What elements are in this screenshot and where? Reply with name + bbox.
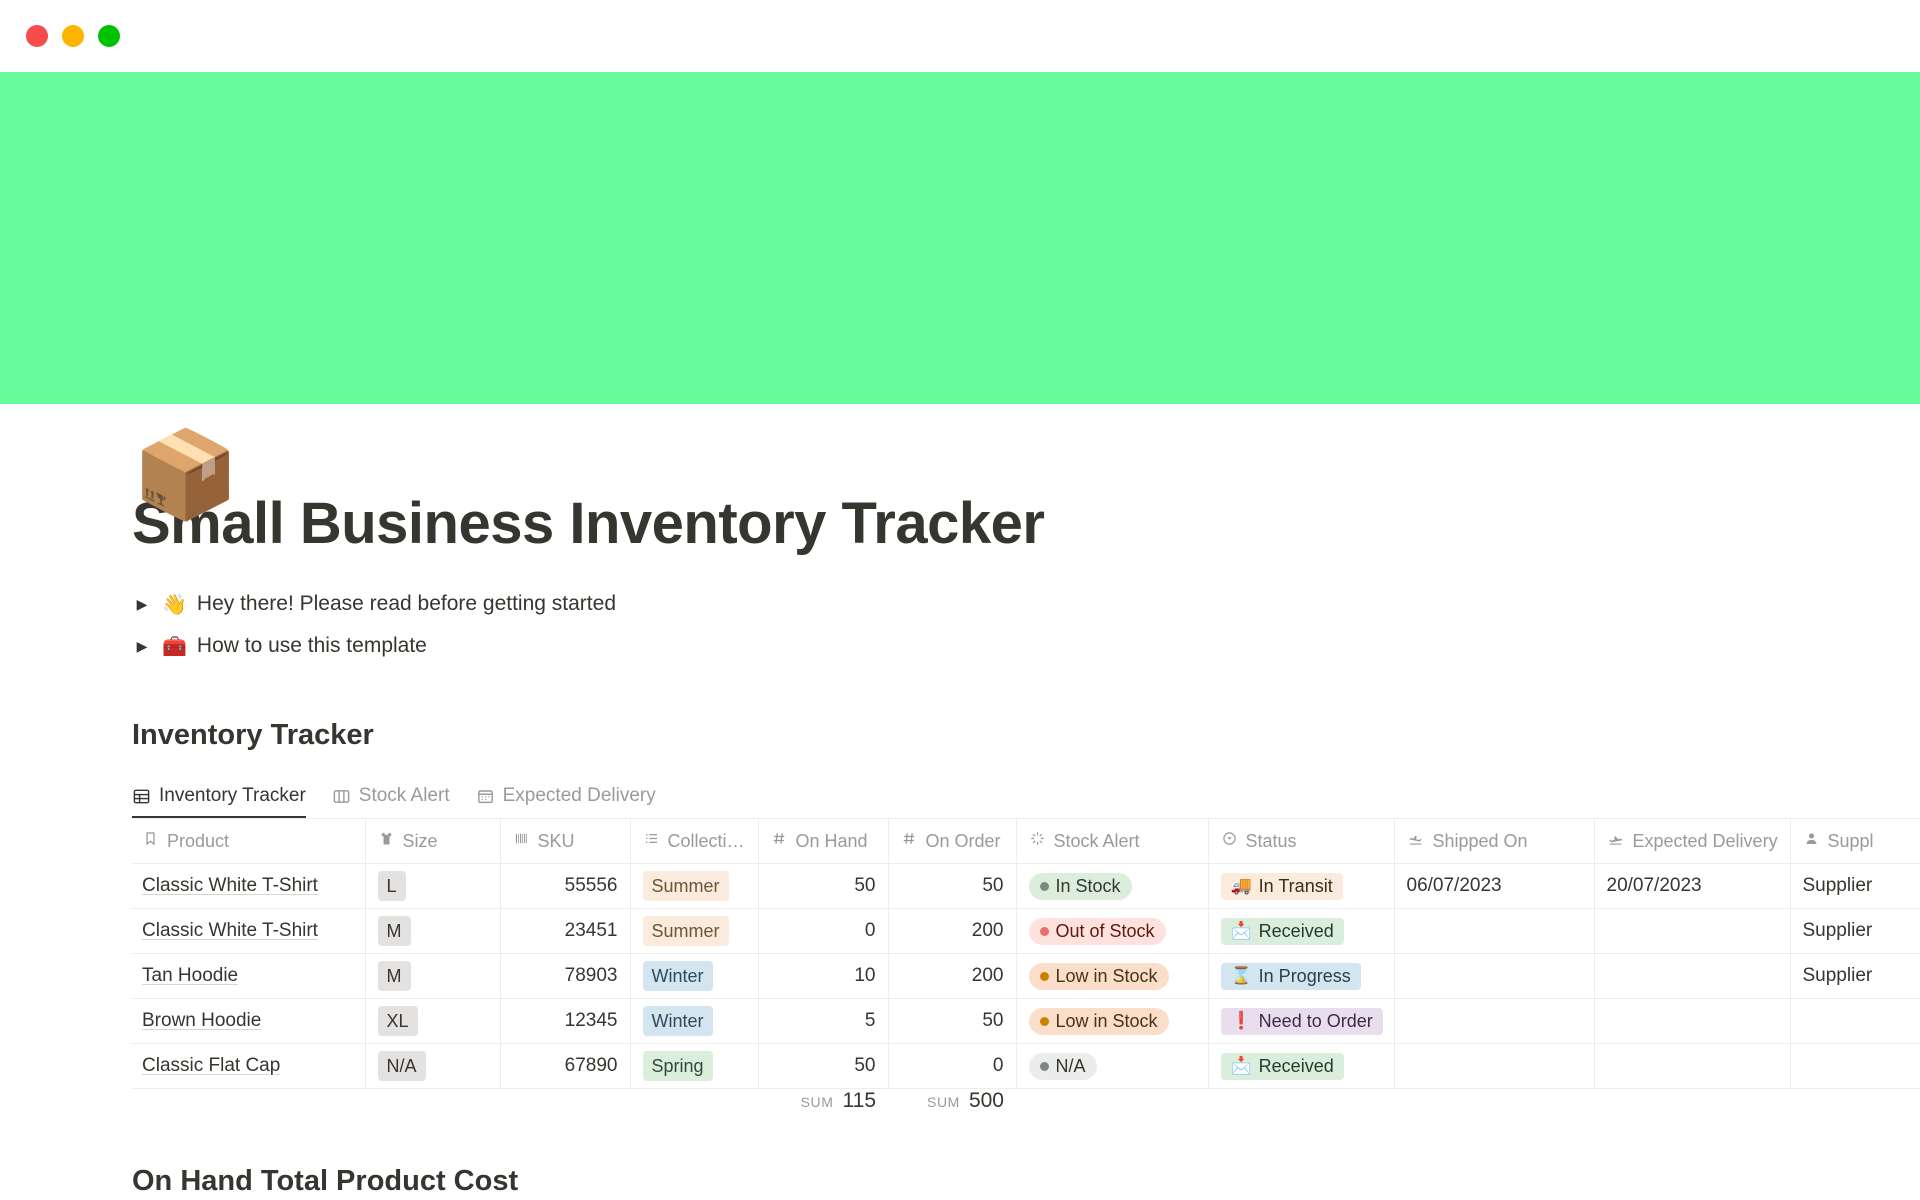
column-header-expected-delivery[interactable]: Expected Delivery — [1594, 819, 1790, 864]
column-header-product[interactable]: Product — [132, 819, 365, 864]
cell-status[interactable]: ⌛In Progress — [1208, 954, 1394, 999]
tab-label: Inventory Tracker — [159, 785, 306, 807]
cell-expected-delivery[interactable] — [1594, 909, 1790, 954]
status-dot-icon — [1040, 1062, 1049, 1071]
toggle-item-how-to-use[interactable]: ▶ 🧰 How to use this template — [132, 625, 1920, 667]
column-header-size[interactable]: Size — [365, 819, 500, 864]
table-header-row: Product Size — [132, 819, 1920, 864]
cell-collection[interactable]: Summer — [630, 909, 758, 954]
cell-stock-alert[interactable]: Low in Stock — [1016, 999, 1208, 1044]
cell-product[interactable]: Tan Hoodie — [132, 954, 365, 999]
cell-collection[interactable]: Summer — [630, 864, 758, 909]
column-header-on-hand[interactable]: On Hand — [758, 819, 888, 864]
cell-stock-alert[interactable]: Low in Stock — [1016, 954, 1208, 999]
toggle-item-welcome[interactable]: ▶ 👋 Hey there! Please read before gettin… — [132, 583, 1920, 625]
cell-on-hand[interactable]: 0 — [758, 909, 888, 954]
cell-size[interactable]: M — [365, 909, 500, 954]
cell-status[interactable]: 📩Received — [1208, 1044, 1394, 1089]
cell-stock-alert[interactable]: In Stock — [1016, 864, 1208, 909]
number-icon — [901, 830, 918, 852]
table-icon — [132, 787, 151, 806]
app-window: 📦 Small Business Inventory Tracker ▶ 👋 H… — [0, 0, 1920, 1200]
tab-stock-alert[interactable]: Stock Alert — [332, 785, 450, 818]
cell-size[interactable]: M — [365, 954, 500, 999]
hourglass-emoji-icon: ⌛ — [1231, 966, 1252, 986]
table-row[interactable]: Brown Hoodie XL 12345 Winter 5 50 Low in… — [132, 999, 1920, 1044]
tshirt-icon — [378, 830, 395, 852]
truck-emoji-icon: 🚚 — [1231, 876, 1252, 896]
page-content: 📦 Small Business Inventory Tracker ▶ 👋 H… — [0, 490, 1920, 1198]
status-dot-icon — [1040, 1017, 1049, 1026]
bookmark-icon — [142, 830, 159, 852]
tab-expected-delivery[interactable]: Expected Delivery — [476, 785, 656, 818]
table-row[interactable]: Classic Flat Cap N/A 67890 Spring 50 0 N… — [132, 1044, 1920, 1089]
column-header-on-order[interactable]: On Order — [888, 819, 1016, 864]
inventory-table: Product Size — [132, 818, 1920, 1139]
column-header-collection[interactable]: Collecti… — [630, 819, 758, 864]
cell-product[interactable]: Classic Flat Cap — [132, 1044, 365, 1089]
cell-on-hand[interactable]: 50 — [758, 1044, 888, 1089]
cell-size[interactable]: XL — [365, 999, 500, 1044]
table-summary-row: Sum 115 Sum 500 — [132, 1089, 1920, 1139]
cell-size[interactable]: N/A — [365, 1044, 500, 1089]
tab-label: Stock Alert — [359, 785, 450, 807]
cell-status[interactable]: 🚚In Transit — [1208, 864, 1394, 909]
package-icon[interactable]: 📦 — [132, 432, 239, 518]
cell-supplier[interactable]: Supplier — [1790, 909, 1920, 954]
cell-product[interactable]: Classic White T-Shirt — [132, 909, 365, 954]
cell-expected-delivery[interactable] — [1594, 999, 1790, 1044]
cell-status[interactable]: ❗Need to Order — [1208, 999, 1394, 1044]
next-section-title: On Hand Total Product Cost — [132, 1165, 1920, 1198]
plane-takeoff-icon — [1407, 830, 1425, 853]
view-tabs: Inventory Tracker Stock Alert — [132, 776, 1920, 818]
cell-collection[interactable]: Winter — [630, 999, 758, 1044]
calendar-icon — [476, 787, 495, 806]
cell-collection[interactable]: Spring — [630, 1044, 758, 1089]
chevron-right-icon[interactable]: ▶ — [132, 638, 152, 655]
cell-on-hand[interactable]: 5 — [758, 999, 888, 1044]
table-row[interactable]: Classic White T-Shirt M 23451 Summer 0 2… — [132, 909, 1920, 954]
person-icon — [1803, 830, 1820, 852]
cell-on-order[interactable]: 50 — [888, 864, 1016, 909]
table-body: Classic White T-Shirt L 55556 Summer 50 … — [132, 864, 1920, 1089]
cell-sku[interactable]: 55556 — [500, 864, 630, 909]
wave-emoji-icon: 👋 — [162, 592, 187, 616]
toggle-label: Hey there! Please read before getting st… — [197, 592, 616, 616]
select-icon — [1221, 830, 1238, 852]
number-icon — [771, 830, 788, 852]
column-header-sku[interactable]: SKU — [500, 819, 630, 864]
inbox-emoji-icon: 📩 — [1231, 1056, 1252, 1076]
cell-on-hand[interactable]: 50 — [758, 864, 888, 909]
minimize-button[interactable] — [62, 25, 84, 47]
cell-stock-alert[interactable]: N/A — [1016, 1044, 1208, 1089]
summary-on-order[interactable]: Sum 500 — [888, 1089, 1016, 1139]
cell-supplier[interactable] — [1790, 1044, 1920, 1089]
cell-shipped-on[interactable]: 06/07/2023 — [1394, 864, 1594, 909]
cell-expected-delivery[interactable] — [1594, 954, 1790, 999]
cell-on-order[interactable]: 0 — [888, 1044, 1016, 1089]
cell-stock-alert[interactable]: Out of Stock — [1016, 909, 1208, 954]
exclamation-emoji-icon: ❗ — [1231, 1011, 1252, 1031]
chevron-right-icon[interactable]: ▶ — [132, 596, 152, 613]
cell-sku[interactable]: 67890 — [500, 1044, 630, 1089]
cover-banner[interactable] — [0, 72, 1920, 404]
cell-status[interactable]: 📩Received — [1208, 909, 1394, 954]
toggle-label: How to use this template — [197, 634, 427, 658]
cell-supplier[interactable] — [1790, 999, 1920, 1044]
formula-icon — [1029, 830, 1046, 852]
tab-label: Expected Delivery — [503, 785, 656, 807]
cell-expected-delivery[interactable] — [1594, 1044, 1790, 1089]
cell-sku[interactable]: 23451 — [500, 909, 630, 954]
page-title: Small Business Inventory Tracker — [132, 490, 1920, 557]
toggle-list: ▶ 👋 Hey there! Please read before gettin… — [132, 583, 1920, 667]
cell-product[interactable]: Classic White T-Shirt — [132, 864, 365, 909]
cell-on-hand[interactable]: 10 — [758, 954, 888, 999]
cell-product[interactable]: Brown Hoodie — [132, 999, 365, 1044]
cell-on-order[interactable]: 200 — [888, 909, 1016, 954]
barcode-icon — [513, 830, 530, 852]
toolbox-emoji-icon: 🧰 — [162, 634, 187, 658]
cell-sku[interactable]: 12345 — [500, 999, 630, 1044]
summary-on-hand[interactable]: Sum 115 — [758, 1089, 888, 1139]
column-header-status[interactable]: Status — [1208, 819, 1394, 864]
tab-inventory-tracker[interactable]: Inventory Tracker — [132, 785, 306, 818]
database-title: Inventory Tracker — [132, 719, 1920, 752]
cell-shipped-on[interactable] — [1394, 954, 1594, 999]
table-row[interactable]: Tan Hoodie M 78903 Winter 10 200 Low in … — [132, 954, 1920, 999]
status-dot-icon — [1040, 972, 1049, 981]
column-header-shipped-on[interactable]: Shipped On — [1394, 819, 1594, 864]
cell-collection[interactable]: Winter — [630, 954, 758, 999]
cell-on-order[interactable]: 200 — [888, 954, 1016, 999]
cell-on-order[interactable]: 50 — [888, 999, 1016, 1044]
column-header-supplier[interactable]: Suppl — [1790, 819, 1920, 864]
list-icon — [643, 830, 660, 852]
column-header-stock-alert[interactable]: Stock Alert — [1016, 819, 1208, 864]
cell-supplier[interactable]: Supplier — [1790, 954, 1920, 999]
board-icon — [332, 787, 351, 806]
cell-sku[interactable]: 78903 — [500, 954, 630, 999]
cell-shipped-on[interactable] — [1394, 1044, 1594, 1089]
cell-shipped-on[interactable] — [1394, 909, 1594, 954]
table-row[interactable]: Classic White T-Shirt L 55556 Summer 50 … — [132, 864, 1920, 909]
cell-size[interactable]: L — [365, 864, 500, 909]
cell-expected-delivery[interactable]: 20/07/2023 — [1594, 864, 1790, 909]
title-bar — [0, 0, 1920, 72]
cell-shipped-on[interactable] — [1394, 999, 1594, 1044]
status-dot-icon — [1040, 927, 1049, 936]
status-dot-icon — [1040, 882, 1049, 891]
zoom-button[interactable] — [98, 25, 120, 47]
cell-supplier[interactable]: Supplier — [1790, 864, 1920, 909]
inbox-emoji-icon: 📩 — [1231, 921, 1252, 941]
close-button[interactable] — [26, 25, 48, 47]
plane-landing-icon — [1607, 830, 1625, 853]
